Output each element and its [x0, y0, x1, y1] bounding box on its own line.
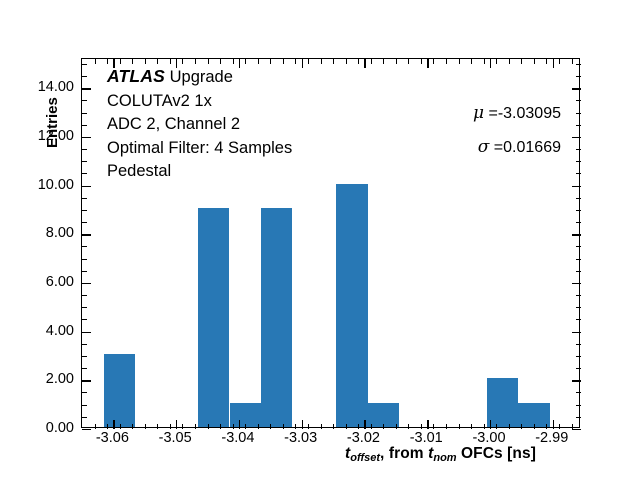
annotation-block: ATLAS Upgrade COLUTAv2 1x ADC 2, Channel…	[107, 65, 292, 184]
y-major-tick	[82, 332, 91, 333]
x-axis-title-tail: OFCs [ns]	[457, 445, 536, 462]
annotation-line-1: ADC 2, Channel 2	[107, 113, 292, 137]
y-minor-tick	[82, 113, 87, 114]
x-major-tick	[113, 420, 114, 429]
x-minor-tick-top	[258, 59, 259, 64]
y-tick-label: 2.00	[46, 371, 74, 387]
y-tick-label: 6.00	[46, 274, 74, 290]
x-minor-tick-top	[383, 59, 384, 64]
y-minor-tick-right	[576, 344, 581, 345]
y-minor-tick	[82, 271, 87, 272]
y-minor-tick	[82, 76, 87, 77]
x-minor-tick	[559, 424, 560, 429]
y-major-tick	[82, 283, 91, 284]
x-minor-tick	[120, 424, 121, 429]
annotation-line-0: COLUTAv2 1x	[107, 90, 292, 114]
y-minor-tick-right	[576, 149, 581, 150]
x-minor-tick-top	[333, 59, 334, 64]
x-minor-tick-top	[446, 59, 447, 64]
y-minor-tick	[82, 210, 87, 211]
x-minor-tick-top	[534, 59, 535, 64]
x-minor-tick-top	[208, 59, 209, 64]
x-minor-tick-top	[358, 59, 359, 64]
x-tick-label: -2.99	[535, 430, 568, 446]
x-tick-label: -3.03	[284, 430, 317, 446]
y-major-tick	[82, 234, 91, 235]
y-major-tick-right	[572, 380, 581, 381]
x-axis-title-sub-offset: offset	[350, 452, 380, 464]
y-minor-tick-right	[576, 210, 581, 211]
x-minor-tick-top	[471, 59, 472, 64]
x-minor-tick	[258, 424, 259, 429]
x-minor-tick-top	[107, 59, 108, 64]
histogram-bar	[261, 208, 292, 427]
y-tick-label: 4.00	[46, 323, 74, 339]
y-minor-tick-right	[576, 64, 581, 65]
atlas-label: ATLAS	[107, 66, 165, 86]
x-minor-tick	[95, 424, 96, 429]
sigma-equals: =	[489, 139, 503, 156]
x-minor-tick-top	[145, 59, 146, 64]
y-tick-label: 0.00	[46, 420, 74, 436]
y-minor-tick	[82, 319, 87, 320]
x-major-tick-top	[427, 59, 428, 68]
y-minor-tick	[82, 198, 87, 199]
y-minor-tick-right	[576, 246, 581, 247]
mu-symbol: μ	[473, 103, 484, 123]
x-minor-tick	[459, 424, 460, 429]
x-minor-tick	[346, 424, 347, 429]
plot-frame: ATLAS Upgrade COLUTAv2 1x ADC 2, Channel…	[81, 58, 580, 428]
y-minor-tick	[82, 246, 87, 247]
histogram-bar	[104, 354, 135, 427]
x-minor-tick	[546, 424, 547, 429]
x-minor-tick-top	[245, 59, 246, 64]
x-major-tick	[364, 420, 365, 429]
annotation-atlas-line: ATLAS Upgrade	[107, 65, 292, 90]
x-axis-title-sub-nom: nom	[433, 452, 456, 464]
x-minor-tick	[195, 424, 196, 429]
mu-value: -3.03095	[498, 105, 561, 122]
x-major-tick-top	[553, 59, 554, 68]
y-minor-tick-right	[576, 368, 581, 369]
x-minor-tick	[132, 424, 133, 429]
x-minor-tick	[170, 424, 171, 429]
x-major-tick	[490, 420, 491, 429]
x-minor-tick-top	[459, 59, 460, 64]
fit-statistics: μ =-3.03095 σ =0.01669	[311, 103, 561, 157]
x-minor-tick-top	[433, 59, 434, 64]
x-minor-tick	[208, 424, 209, 429]
x-minor-tick-top	[346, 59, 347, 64]
y-minor-tick-right	[576, 295, 581, 296]
x-minor-tick-top	[270, 59, 271, 64]
y-minor-tick-right	[576, 392, 581, 393]
y-tick-label: 14.00	[38, 79, 74, 95]
y-minor-tick	[82, 125, 87, 126]
x-minor-tick	[270, 424, 271, 429]
x-minor-tick	[521, 424, 522, 429]
x-major-tick	[239, 420, 240, 429]
histogram-bar	[198, 208, 229, 427]
y-minor-tick-right	[576, 173, 581, 174]
y-minor-tick	[82, 161, 87, 162]
x-minor-tick	[233, 424, 234, 429]
x-minor-tick	[107, 424, 108, 429]
x-minor-tick-top	[521, 59, 522, 64]
y-minor-tick-right	[576, 76, 581, 77]
y-minor-tick-right	[576, 113, 581, 114]
x-minor-tick-top	[496, 59, 497, 64]
x-minor-tick	[509, 424, 510, 429]
y-major-tick	[82, 137, 91, 138]
y-minor-tick-right	[576, 405, 581, 406]
x-minor-tick	[421, 424, 422, 429]
atlas-suffix: Upgrade	[165, 68, 233, 86]
x-minor-tick-top	[572, 59, 573, 64]
x-minor-tick	[157, 424, 158, 429]
sigma-stat: σ =0.01669	[311, 137, 561, 157]
x-minor-tick	[321, 424, 322, 429]
annotation-line-2: Optimal Filter: 4 Samples	[107, 137, 292, 161]
x-minor-tick-top	[509, 59, 510, 64]
x-minor-tick	[383, 424, 384, 429]
x-minor-tick-top	[132, 59, 133, 64]
y-minor-tick	[82, 344, 87, 345]
x-tick-label: -3.06	[96, 430, 129, 446]
x-minor-tick	[358, 424, 359, 429]
x-minor-tick	[145, 424, 146, 429]
x-minor-tick	[471, 424, 472, 429]
sigma-value: 0.01669	[503, 139, 561, 156]
y-minor-tick	[82, 392, 87, 393]
x-tick-label: -3.04	[221, 430, 254, 446]
sigma-symbol: σ	[478, 137, 490, 157]
x-minor-tick	[408, 424, 409, 429]
y-minor-tick	[82, 417, 87, 418]
x-minor-tick-top	[220, 59, 221, 64]
y-major-tick	[82, 380, 91, 381]
x-minor-tick	[433, 424, 434, 429]
x-tick-label: -3.00	[472, 430, 505, 446]
y-minor-tick	[82, 259, 87, 260]
x-minor-tick-top	[308, 59, 309, 64]
chart-canvas: Entries 0.002.004.006.008.0010.0012.0014…	[0, 0, 640, 480]
x-axis-title-mid: , from	[380, 445, 428, 462]
x-minor-tick	[396, 424, 397, 429]
x-major-tick-top	[490, 59, 491, 68]
mu-equals: =	[484, 105, 498, 122]
x-minor-tick	[496, 424, 497, 429]
y-tick-label: 8.00	[46, 225, 74, 241]
y-major-tick	[82, 88, 91, 89]
y-minor-tick-right	[576, 319, 581, 320]
x-tick-label: -3.01	[410, 430, 443, 446]
y-axis-tick-labels: 0.002.004.006.008.0010.0012.0014.00	[0, 0, 74, 480]
x-minor-tick-top	[559, 59, 560, 64]
y-minor-tick-right	[576, 100, 581, 101]
y-minor-tick	[82, 405, 87, 406]
y-minor-tick	[82, 295, 87, 296]
y-major-tick-right	[572, 283, 581, 284]
x-minor-tick-top	[546, 59, 547, 64]
y-minor-tick-right	[576, 259, 581, 260]
x-axis-title: toffset, from tnom OFCs [ns]	[345, 445, 536, 464]
y-tick-label: 10.00	[38, 177, 74, 193]
y-minor-tick	[82, 149, 87, 150]
y-minor-tick-right	[576, 125, 581, 126]
histogram-bar	[487, 378, 518, 427]
y-minor-tick	[82, 356, 87, 357]
x-minor-tick-top	[371, 59, 372, 64]
y-minor-tick-right	[576, 307, 581, 308]
x-minor-tick	[446, 424, 447, 429]
x-minor-tick-top	[283, 59, 284, 64]
x-minor-tick	[534, 424, 535, 429]
y-major-tick-right	[572, 186, 581, 187]
y-minor-tick	[82, 368, 87, 369]
x-minor-tick	[295, 424, 296, 429]
x-minor-tick-top	[396, 59, 397, 64]
x-minor-tick	[245, 424, 246, 429]
y-major-tick-right	[572, 429, 581, 430]
x-minor-tick	[308, 424, 309, 429]
x-minor-tick-top	[295, 59, 296, 64]
x-minor-tick	[333, 424, 334, 429]
stats-spacer	[311, 123, 561, 137]
annotation-line-3: Pedestal	[107, 160, 292, 184]
x-minor-tick-top	[195, 59, 196, 64]
x-minor-tick-top	[182, 59, 183, 64]
x-minor-tick-top	[421, 59, 422, 64]
y-major-tick	[82, 429, 91, 430]
x-minor-tick	[220, 424, 221, 429]
y-minor-tick-right	[576, 417, 581, 418]
x-major-tick-top	[364, 59, 365, 68]
x-minor-tick-top	[233, 59, 234, 64]
y-minor-tick-right	[576, 222, 581, 223]
x-minor-tick	[182, 424, 183, 429]
y-major-tick-right	[572, 137, 581, 138]
x-tick-label: -3.02	[347, 430, 380, 446]
mu-stat: μ =-3.03095	[311, 103, 561, 123]
x-minor-tick-top	[408, 59, 409, 64]
y-minor-tick	[82, 307, 87, 308]
x-tick-label: -3.05	[159, 430, 192, 446]
x-major-tick	[176, 420, 177, 429]
histogram-bar	[336, 184, 367, 427]
y-minor-tick-right	[576, 198, 581, 199]
x-major-tick	[553, 420, 554, 429]
y-minor-tick	[82, 100, 87, 101]
x-minor-tick-top	[157, 59, 158, 64]
x-minor-tick-top	[321, 59, 322, 64]
x-major-tick	[427, 420, 428, 429]
x-minor-tick	[283, 424, 284, 429]
y-minor-tick	[82, 64, 87, 65]
x-major-tick-top	[302, 59, 303, 68]
x-minor-tick	[484, 424, 485, 429]
x-major-tick	[302, 420, 303, 429]
y-minor-tick-right	[576, 356, 581, 357]
y-minor-tick	[82, 173, 87, 174]
x-minor-tick-top	[120, 59, 121, 64]
y-tick-label: 12.00	[38, 128, 74, 144]
y-major-tick-right	[572, 88, 581, 89]
y-major-tick-right	[572, 234, 581, 235]
x-minor-tick-top	[95, 59, 96, 64]
y-major-tick-right	[572, 332, 581, 333]
x-minor-tick-top	[484, 59, 485, 64]
y-major-tick	[82, 186, 91, 187]
x-minor-tick-top	[170, 59, 171, 64]
y-minor-tick-right	[576, 161, 581, 162]
x-minor-tick	[371, 424, 372, 429]
y-minor-tick-right	[576, 271, 581, 272]
y-minor-tick	[82, 222, 87, 223]
